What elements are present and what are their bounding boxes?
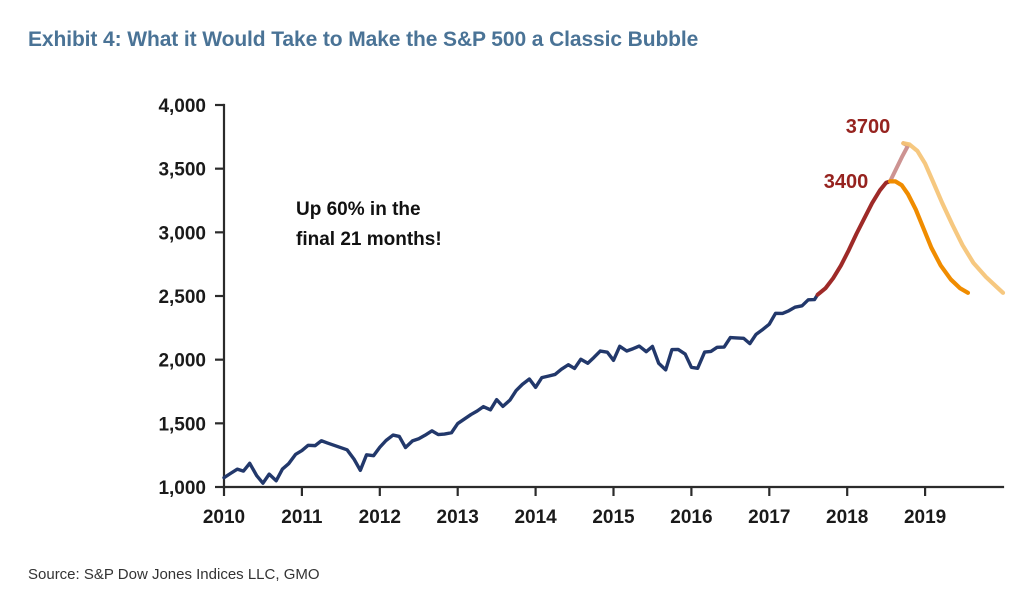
callout-line-2: final 21 months! [296,229,442,250]
y-tick-label: 3,500 [158,160,206,181]
x-tick-label: 2015 [592,507,635,528]
x-tick-label: 2011 [281,507,323,528]
callout-line-1: Up 60% in the [296,199,421,220]
x-tick-label: 2017 [748,507,790,528]
x-tick-label: 2016 [670,507,712,528]
y-axis-tick-marks [215,105,224,487]
series-line [224,295,818,483]
peak-label-3400: 3400 [824,171,869,193]
chart-page: Exhibit 4: What it Would Take to Make th… [0,0,1024,600]
x-tick-label: 2019 [904,507,946,528]
peak-label-3700: 3700 [846,116,891,138]
x-axis-tick-labels: 2010201120122013201420152016201720182019 [203,507,946,528]
y-tick-label: 2,500 [158,287,206,308]
y-tick-label: 3,000 [158,223,206,244]
series-line [890,143,908,181]
series-line [818,181,890,294]
x-axis-tick-marks [224,487,925,496]
x-tick-label: 2014 [514,507,557,528]
x-tick-label: 2010 [203,507,245,528]
y-tick-label: 4,000 [158,96,206,117]
y-tick-label: 1,500 [158,414,206,435]
x-tick-label: 2012 [359,507,401,528]
y-axis-tick-labels: 1,0001,5002,0002,5003,0003,5004,000 [158,96,206,499]
line-chart: 1,0001,5002,0002,5003,0003,5004,000 2010… [0,0,1024,560]
x-tick-label: 2018 [826,507,868,528]
chart-series-group [224,143,1003,483]
y-tick-label: 2,000 [158,351,206,372]
y-tick-label: 1,000 [158,478,206,499]
source-note: Source: S&P Dow Jones Indices LLC, GMO [28,566,320,583]
chart-canvas: 1,0001,5002,0002,5003,0003,5004,000 2010… [0,0,1024,560]
x-tick-label: 2013 [437,507,479,528]
